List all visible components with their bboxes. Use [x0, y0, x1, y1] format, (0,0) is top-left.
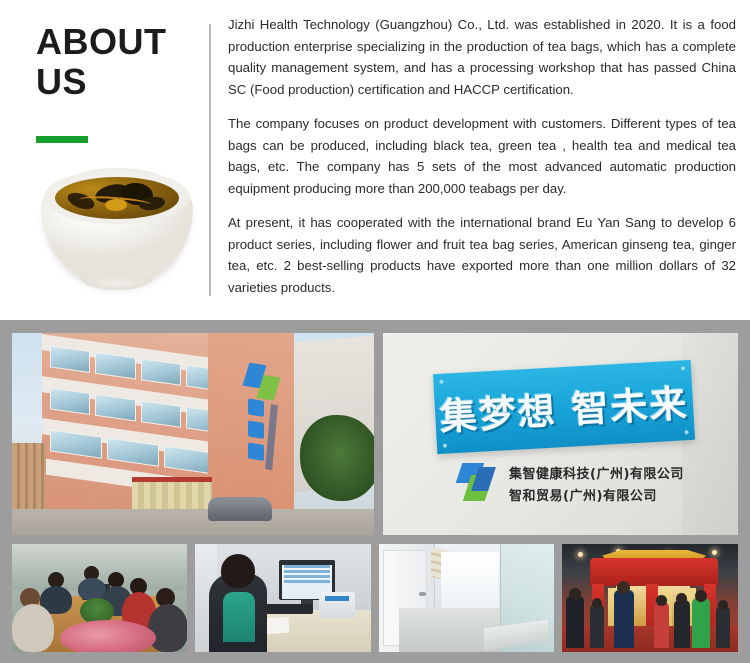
booth-roof: [590, 558, 718, 586]
gallery-photo-wall-sign[interactable]: 集梦想 智未来 集智健康科技(广州)有限公司 智和贸易(广州)有限公司: [383, 333, 738, 535]
about-photo-tea-bowl: [27, 152, 209, 302]
visitor-body: [566, 596, 584, 648]
parked-car: [208, 497, 272, 521]
screen-row: [284, 565, 330, 568]
gallery-photo-factory-building[interactable]: [12, 333, 374, 535]
about-paragraph-1: Jizhi Health Technology (Guangzhou) Co.,…: [228, 14, 736, 100]
logo-character: [248, 398, 264, 417]
vertical-divider: [209, 24, 211, 296]
visitor-body: [674, 600, 690, 648]
gallery-bottom-row: [12, 544, 738, 652]
ground-pavement: [12, 509, 374, 535]
about-section: ABOUT US: [0, 0, 750, 318]
sign-plate: 集梦想 智未来: [433, 360, 695, 454]
keyboard: [265, 604, 313, 614]
screen-row: [284, 575, 330, 578]
gallery-top-row: 集梦想 智未来 集智健康科技(广州)有限公司 智和贸易(广州)有限公司: [12, 333, 738, 535]
visitor-body: [590, 604, 604, 648]
screen-row: [284, 580, 330, 583]
title-accent-rule: [36, 136, 88, 143]
photo-gallery: 集梦想 智未来 集智健康科技(广州)有限公司 智和贸易(广州)有限公司: [0, 320, 750, 663]
tea-bowl-illustration: [27, 152, 209, 302]
tree: [300, 415, 374, 501]
about-us-page: ABOUT US: [0, 0, 750, 663]
about-paragraph-3: At present, it has cooperated with the i…: [228, 212, 736, 298]
about-text-column: Jizhi Health Technology (Guangzhou) Co.,…: [228, 14, 736, 298]
screen-row: [284, 570, 330, 573]
sign-slogan: 集梦想 智未来: [433, 360, 695, 454]
company-logo-icon: [455, 461, 501, 505]
printer-accent: [325, 596, 349, 601]
logo-english-text: [265, 404, 278, 471]
foreground-flowers: [60, 620, 156, 652]
person-body: [12, 604, 54, 652]
company-name-line-1: 集智健康科技(广州)有限公司: [509, 463, 684, 482]
visitor-body: [692, 598, 710, 648]
door-handle: [419, 592, 426, 596]
company-name-line-2: 智和贸易(广州)有限公司: [509, 485, 657, 504]
about-paragraph-2: The company focuses on product developme…: [228, 113, 736, 199]
side-fence: [12, 443, 46, 513]
exhibition-floor: [562, 626, 738, 652]
gallery-photo-team-meeting[interactable]: [12, 544, 187, 652]
tea-liquid: [55, 177, 179, 219]
person-body: [148, 604, 187, 652]
person-shirt: [223, 592, 255, 642]
building-logo-icon: [244, 362, 284, 478]
gallery-photo-trade-show-booth[interactable]: [562, 544, 738, 652]
page-title: ABOUT US: [36, 22, 201, 102]
gallery-photo-office-workstation[interactable]: [195, 544, 370, 652]
visitor-body: [716, 606, 730, 648]
visitor-body: [614, 590, 634, 648]
person-head: [221, 554, 255, 588]
bowl-foot: [81, 278, 153, 290]
logo-character: [248, 442, 264, 461]
about-left-column: ABOUT US: [0, 0, 210, 318]
visitor-body: [654, 602, 669, 648]
logo-character: [248, 420, 264, 439]
gallery-photo-corridor[interactable]: [379, 544, 554, 652]
